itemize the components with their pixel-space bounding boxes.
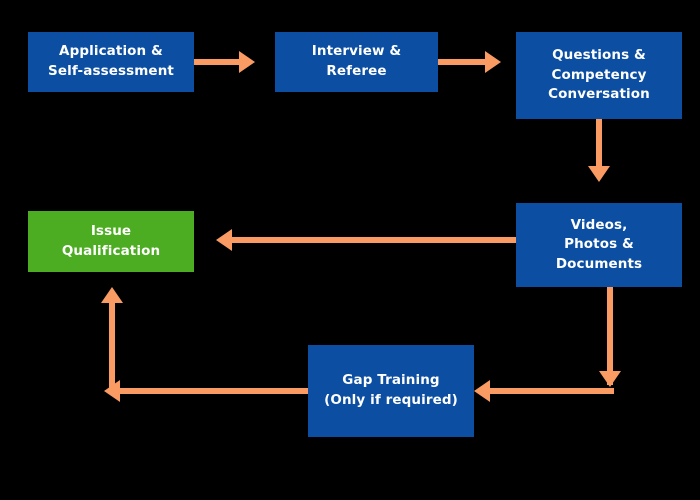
node-interview-referee[interactable]: Interview & Referee: [275, 32, 438, 92]
arrow-shaft: [232, 237, 516, 243]
node-label: Interview & Referee: [312, 42, 402, 81]
flowchart-canvas: Application & Self-assessment Interview …: [0, 0, 700, 500]
node-label: Gap Training (Only if required): [324, 371, 458, 410]
arrowhead-right-icon: [239, 51, 255, 73]
arrowhead-down-icon: [588, 166, 610, 182]
node-label: Issue Qualification: [62, 222, 160, 261]
arrowhead-up-icon: [101, 287, 123, 303]
node-questions-competency-conversation[interactable]: Questions & Competency Conversation: [516, 32, 682, 119]
node-label: Videos, Photos & Documents: [556, 216, 642, 275]
arrowhead-right-icon: [485, 51, 501, 73]
arrow-shaft-horizontal: [112, 388, 308, 394]
arrowhead-left-icon: [216, 229, 232, 251]
node-videos-photos-documents[interactable]: Videos, Photos & Documents: [516, 203, 682, 287]
node-label: Application & Self-assessment: [48, 42, 174, 81]
node-gap-training[interactable]: Gap Training (Only if required): [308, 345, 474, 437]
arrowhead-down-icon: [599, 371, 621, 387]
arrow-shaft: [438, 59, 488, 65]
arrow-shaft-vertical: [109, 300, 115, 391]
arrow-shaft: [194, 59, 242, 65]
arrow-shaft: [596, 119, 602, 171]
arrow-shaft-horizontal: [490, 388, 614, 394]
node-issue-qualification[interactable]: Issue Qualification: [28, 211, 194, 272]
node-application-self-assessment[interactable]: Application & Self-assessment: [28, 32, 194, 92]
node-label: Questions & Competency Conversation: [548, 46, 650, 105]
arrowhead-left-icon: [474, 380, 490, 402]
